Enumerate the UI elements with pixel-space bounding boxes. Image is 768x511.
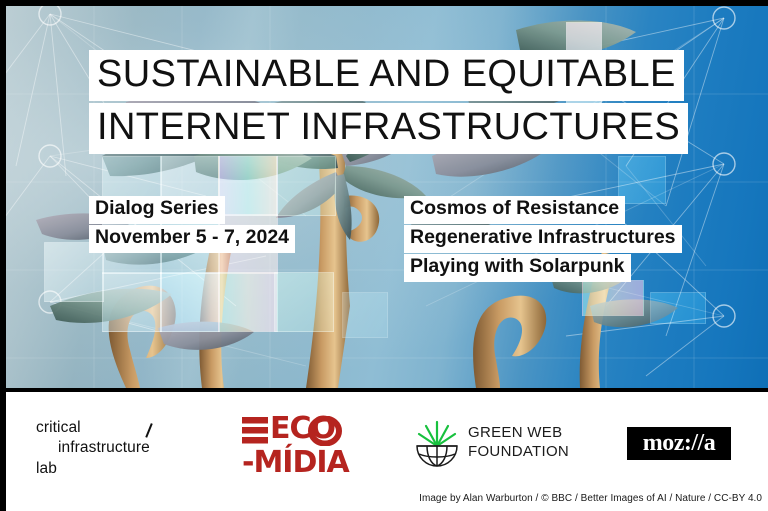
midia-word: -MÍDIA bbox=[242, 449, 362, 478]
poster-title-line-2: INTERNET INFRASTRUCTURES bbox=[89, 103, 688, 154]
gwf-line-2: FOUNDATION bbox=[468, 443, 569, 462]
dialog-series-label: Dialog Series bbox=[89, 196, 225, 224]
topic-playing-with-solarpunk: Playing with Solarpunk bbox=[404, 254, 631, 282]
poster: SUSTAINABLE AND EQUITABLE INTERNET INFRA… bbox=[0, 0, 768, 511]
cil-line-2: infrastructure bbox=[58, 438, 216, 458]
event-dates: November 5 - 7, 2024 bbox=[89, 225, 295, 253]
partner-logo-bar: critical infrastructure lab ECO -MÍDIA bbox=[6, 392, 768, 511]
mozilla-wordmark: moz://a bbox=[627, 427, 731, 460]
poster-title-line-1: SUSTAINABLE AND EQUITABLE bbox=[89, 50, 684, 101]
gwf-wordmark: GREEN WEB FOUNDATION bbox=[468, 424, 569, 462]
eco-oval-glyph bbox=[308, 416, 342, 446]
logo-mozilla[interactable]: moz://a bbox=[627, 427, 731, 460]
hero-image: SUSTAINABLE AND EQUITABLE INTERNET INFRA… bbox=[6, 6, 768, 388]
gwf-line-1: GREEN WEB bbox=[468, 424, 569, 443]
eco-e-glyph bbox=[242, 416, 268, 446]
green-web-globe-icon bbox=[412, 420, 462, 472]
logo-critical-infrastructure-lab[interactable]: critical infrastructure lab bbox=[36, 418, 216, 480]
logo-green-web-foundation[interactable]: GREEN WEB FOUNDATION bbox=[412, 418, 592, 478]
topic-regenerative-infrastructures: Regenerative Infrastructures bbox=[404, 225, 682, 253]
cil-line-1: critical bbox=[36, 418, 216, 438]
image-credit: Image by Alan Warburton / © BBC / Better… bbox=[419, 493, 762, 504]
cil-line-3: lab bbox=[36, 459, 216, 479]
logo-eco-midia[interactable]: ECO -MÍDIA bbox=[242, 415, 362, 483]
topic-cosmos-of-resistance: Cosmos of Resistance bbox=[404, 196, 625, 224]
